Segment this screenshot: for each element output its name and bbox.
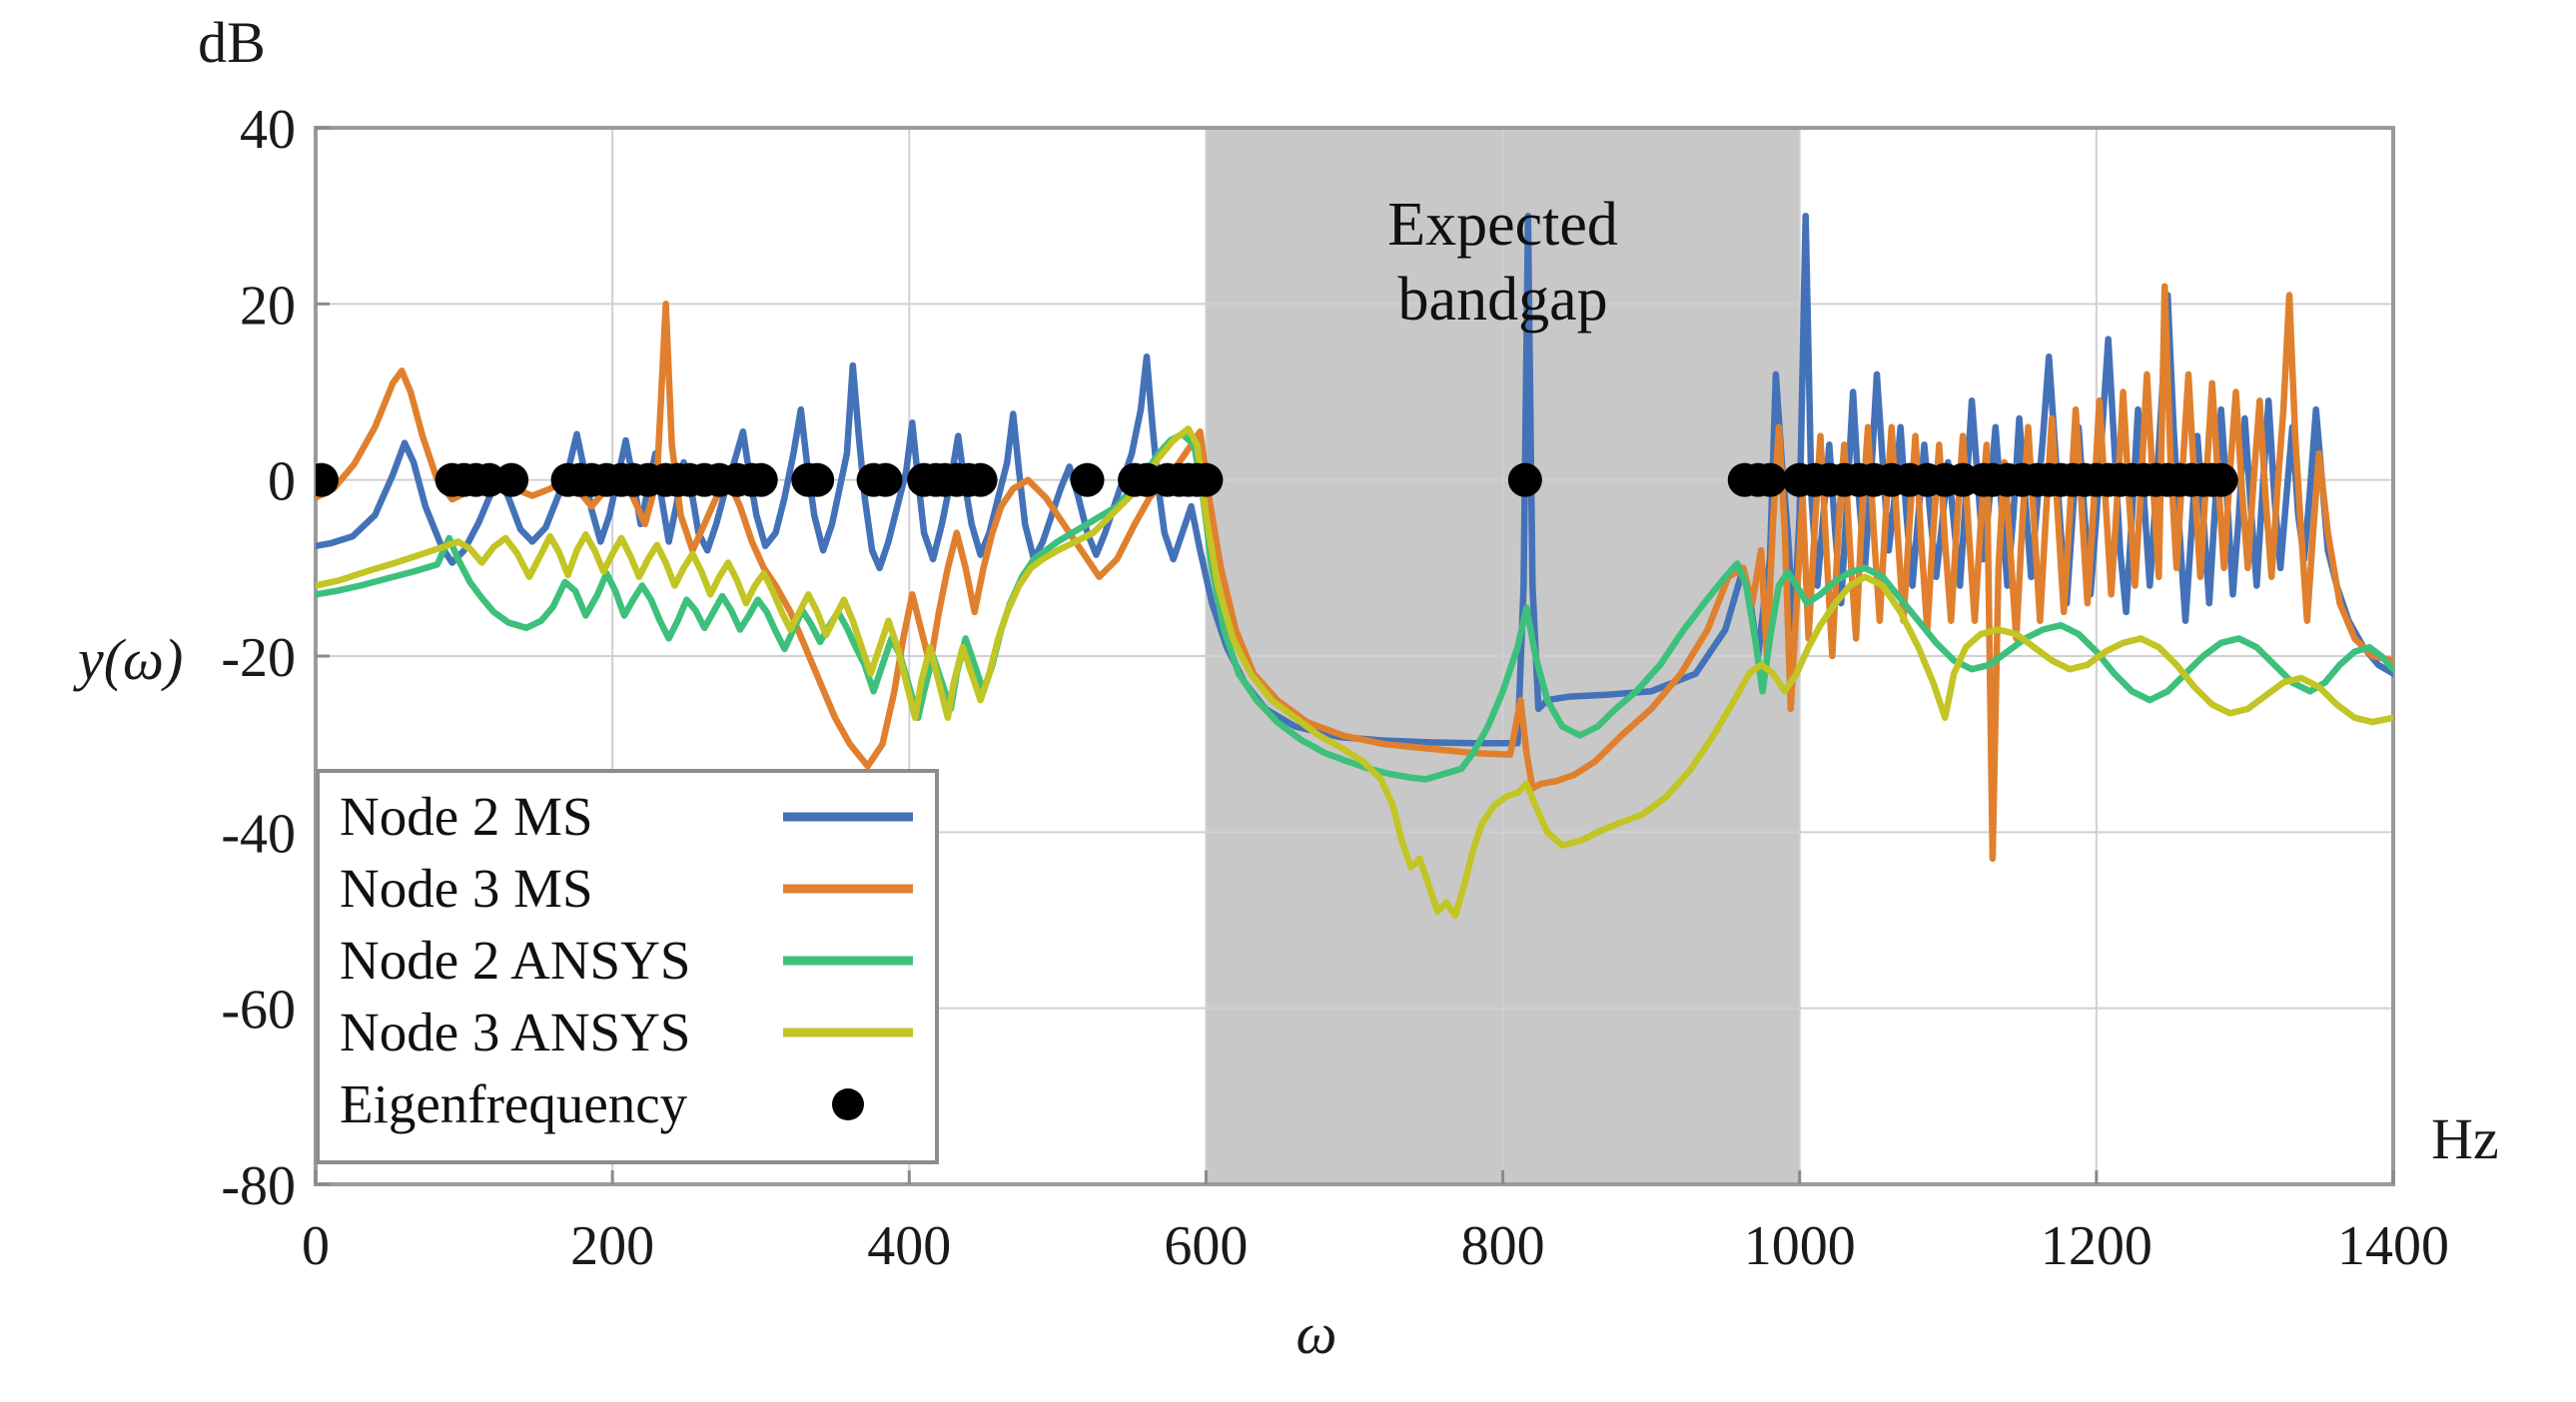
x-tick-label: 1000 bbox=[1744, 1215, 1856, 1277]
eigenfrequency-dot bbox=[964, 463, 998, 497]
bandgap-label-line2: bandgap bbox=[1398, 266, 1608, 334]
legend-swatch-4 bbox=[832, 1088, 864, 1120]
y-tick-label: -60 bbox=[221, 980, 296, 1042]
y-tick-label: -80 bbox=[221, 1155, 296, 1217]
eigenfrequency-dot bbox=[1071, 463, 1105, 497]
x-tick-label: 1200 bbox=[2041, 1215, 2152, 1277]
x-tick-label: 0 bbox=[302, 1215, 330, 1277]
y-tick-label: -20 bbox=[221, 627, 296, 689]
eigenfrequency-dot bbox=[494, 463, 528, 497]
legend-box[interactable]: Node 2 MSNode 3 MSNode 2 ANSYSNode 3 ANS… bbox=[318, 771, 937, 1162]
x-tick-label: 1400 bbox=[2337, 1215, 2449, 1277]
legend-label-4: Eigenfrequency bbox=[340, 1073, 688, 1134]
y-tick-label: 0 bbox=[268, 451, 296, 513]
x-tick-label: 600 bbox=[1164, 1215, 1248, 1277]
eigenfrequency-dot bbox=[744, 463, 778, 497]
x-axis-label: ω bbox=[1296, 1301, 1337, 1366]
y-axis-label: y(ω) bbox=[73, 627, 183, 692]
y-tick-label: 20 bbox=[240, 275, 296, 337]
y-tick-label: 40 bbox=[240, 99, 296, 161]
eigenfrequency-dot bbox=[1508, 463, 1542, 497]
frequency-response-chart: 020040060080010001200140040200-20-40-60-… bbox=[0, 0, 2576, 1402]
legend-label-1: Node 3 MS bbox=[340, 858, 593, 919]
y-unit-label: dB bbox=[198, 10, 266, 75]
legend-label-2: Node 2 ANSYS bbox=[340, 930, 690, 991]
y-tick-label: -40 bbox=[221, 803, 296, 865]
eigenfrequency-dot bbox=[869, 463, 903, 497]
eigenfrequency-dot bbox=[1753, 463, 1787, 497]
x-tick-label: 400 bbox=[867, 1215, 951, 1277]
x-tick-label: 200 bbox=[570, 1215, 654, 1277]
legend-label-3: Node 3 ANSYS bbox=[340, 1002, 690, 1062]
eigenfrequency-dot bbox=[1189, 463, 1223, 497]
eigenfrequency-dot bbox=[2204, 463, 2238, 497]
bandgap-label-line1: Expected bbox=[1387, 191, 1618, 259]
chart-figure: 020040060080010001200140040200-20-40-60-… bbox=[0, 0, 2576, 1402]
x-tick-label: 800 bbox=[1461, 1215, 1545, 1277]
eigenfrequency-dot bbox=[800, 463, 834, 497]
legend-label-0: Node 2 MS bbox=[340, 786, 593, 847]
x-unit-label: Hz bbox=[2431, 1106, 2499, 1171]
